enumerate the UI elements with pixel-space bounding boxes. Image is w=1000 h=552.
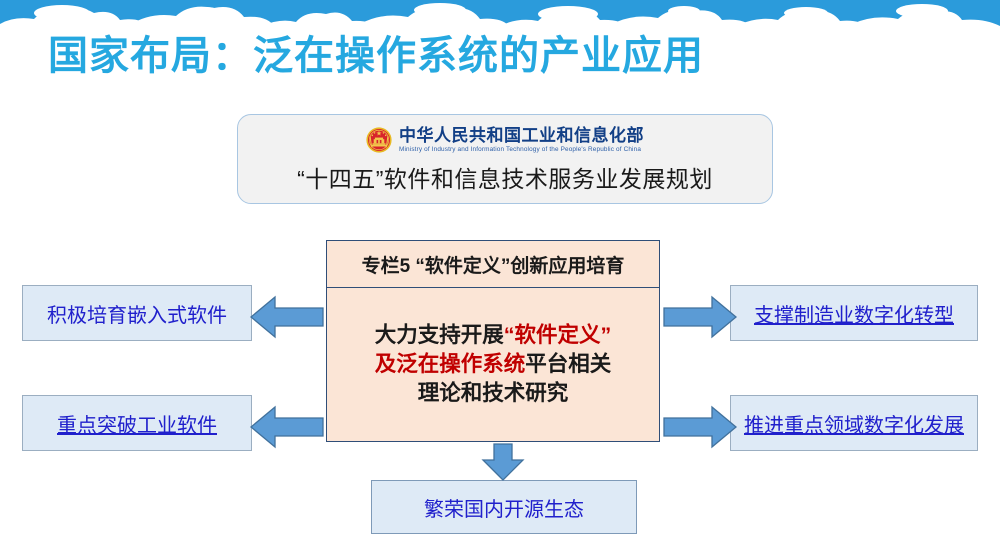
body-line1-plain: 大力支持开展	[375, 323, 504, 347]
cloud-banner	[0, 0, 1000, 36]
box-key-field-label: 推进重点领域数字化发展	[744, 409, 964, 438]
box-manufacturing-digital-transformation[interactable]: 支撑制造业数字化转型	[730, 285, 978, 341]
body-line2-highlight: 及泛在操作系统	[375, 352, 526, 376]
box-key-field-digital-development[interactable]: 推进重点领域数字化发展	[730, 395, 978, 451]
ministry-text-block: 中华人民共和国工业和信息化部 Ministry of Industry and …	[399, 126, 644, 154]
ministry-row: 中华人民共和国工业和信息化部 Ministry of Industry and …	[366, 126, 644, 154]
plan-card: 中华人民共和国工业和信息化部 Ministry of Industry and …	[237, 114, 773, 204]
box-open-source-ecosystem[interactable]: 繁荣国内开源生态	[371, 480, 637, 534]
plan-title: “十四五”软件和信息技术服务业发展规划	[297, 160, 713, 194]
body-line2-plain: 平台相关	[525, 352, 611, 376]
box-industrial-software[interactable]: 重点突破工业软件	[22, 395, 252, 451]
box-embedded-software-label: 积极培育嵌入式软件	[47, 299, 227, 328]
box-industrial-software-label: 重点突破工业软件	[57, 409, 217, 438]
box-manufacturing-label: 支撑制造业数字化转型	[754, 299, 954, 328]
cloud-shapes-icon	[0, 0, 1000, 36]
arrow-down-icon	[481, 442, 525, 482]
box-embedded-software[interactable]: 积极培育嵌入式软件	[22, 285, 252, 341]
slide-canvas: 国家布局：泛在操作系统的产业应用	[0, 0, 1000, 552]
arrow-right-icon-bottom	[662, 405, 738, 449]
center-box-body: 大力支持开展“软件定义” 及泛在操作系统平台相关 理论和技术研究	[327, 288, 659, 441]
body-line3-plain: 理论和技术研究	[418, 381, 569, 405]
body-line1-highlight: “软件定义”	[504, 323, 612, 347]
page-title: 国家布局：泛在操作系统的产业应用	[48, 32, 704, 80]
center-box-heading: 专栏5 “软件定义”创新应用培育	[327, 241, 659, 288]
arrow-right-icon-top	[662, 295, 738, 339]
box-open-source-label: 繁荣国内开源生态	[424, 493, 584, 522]
ministry-name-en: Ministry of Industry and Information Tec…	[399, 146, 641, 154]
china-national-emblem-icon	[366, 127, 392, 153]
center-box: 专栏5 “软件定义”创新应用培育 大力支持开展“软件定义” 及泛在操作系统平台相…	[326, 240, 660, 442]
arrow-left-icon-bottom	[249, 405, 325, 449]
ministry-name-cn: 中华人民共和国工业和信息化部	[399, 126, 644, 146]
arrow-left-icon-top	[249, 295, 325, 339]
